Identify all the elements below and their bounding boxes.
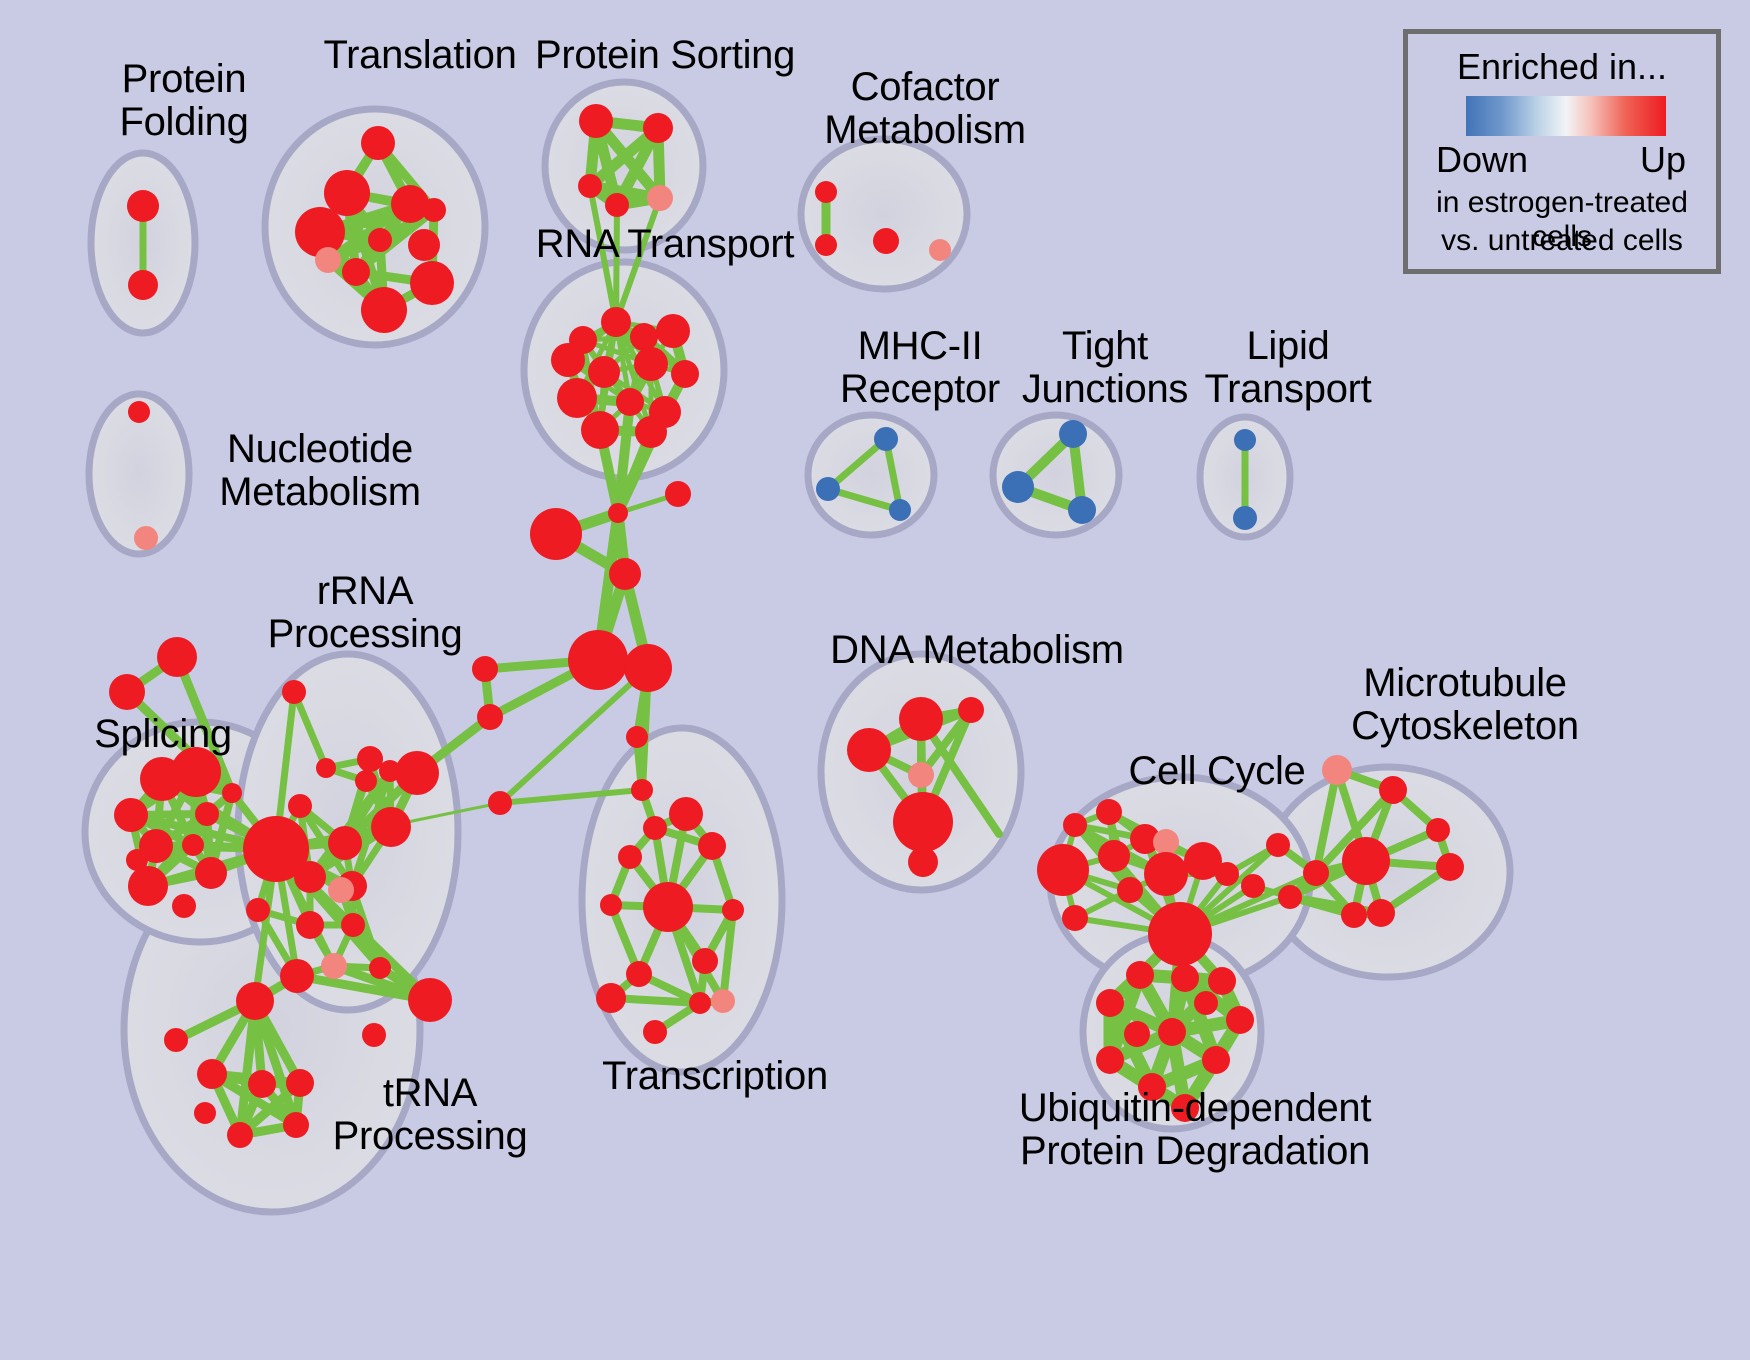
gene-set-node [248,1070,276,1098]
gene-set-node [1096,1046,1124,1074]
gene-set-node [1068,496,1096,524]
gene-set-node [128,401,150,423]
gene-set-node [958,697,984,723]
gene-set-node [689,992,711,1014]
hull-protein-sorting [545,82,703,250]
gene-set-node [579,104,613,138]
gene-set-node [355,770,377,792]
gene-set-node [596,983,626,1013]
gene-set-node [1226,1006,1254,1034]
gene-set-node [873,228,899,254]
gene-set-node [630,323,658,351]
gene-set-node [1148,902,1212,966]
legend-title: Enriched in... [1408,46,1716,88]
gene-set-node [1096,799,1122,825]
gene-set-node [616,388,644,416]
gene-set-node [182,834,204,856]
gene-set-node [711,989,735,1013]
hull-mhc-ii-receptor [808,415,934,535]
gene-set-node [669,797,703,831]
gene-set-node [341,913,365,937]
gene-set-node [1342,837,1390,885]
gene-set-node [643,113,673,143]
gene-set-node [369,957,391,979]
gene-set-node [631,779,653,801]
gene-set-node [408,229,440,261]
gene-set-node [608,503,628,523]
gene-set-node [286,1069,314,1097]
gene-set-node [893,792,953,852]
gene-set-node [128,270,158,300]
gene-set-node [1171,1094,1199,1122]
gene-set-node [280,959,314,993]
gene-set-node [328,826,362,860]
gene-set-node [1158,1018,1186,1046]
gene-set-node [816,477,840,501]
gene-set-node [643,816,667,840]
gene-set-node [195,857,227,889]
gene-set-node [601,307,631,337]
gene-set-node [815,181,837,203]
gene-set-node [361,126,395,160]
gene-set-node [1379,776,1407,804]
gene-set-node [626,726,648,748]
gene-set-node [1098,840,1130,872]
gene-set-node [557,378,597,418]
gene-set-node [114,798,148,832]
gene-set-node [578,174,602,198]
gene-set-node [899,697,943,741]
gene-set-node [422,198,446,222]
gene-set-node [488,791,512,815]
gene-set-node [243,816,309,882]
gene-set-node [357,746,383,772]
gene-set-node [1171,964,1199,992]
gene-set-node [134,526,158,550]
gene-set-node [126,849,148,871]
gene-set-node [665,481,691,507]
gene-set-node [472,656,498,682]
gene-set-node [1126,961,1154,989]
gene-set-node [1037,844,1089,896]
gene-set-node [361,287,407,333]
gene-set-node [342,258,370,286]
gene-set-node [874,427,898,451]
gene-set-node [1341,902,1367,928]
gene-set-node [609,558,641,590]
gene-set-node [371,807,411,847]
gene-set-node [391,185,429,223]
gene-set-node [647,185,673,211]
gene-set-node [671,360,699,388]
gene-set-node [692,948,718,974]
legend-up-label: Up [1640,139,1686,181]
gene-set-node [172,894,196,918]
gene-set-node [1117,877,1143,903]
cluster-hulls [85,82,1510,1212]
gene-set-node [246,898,270,922]
gene-set-node [722,899,744,921]
gene-set-node [1153,829,1179,855]
gene-set-node [324,170,370,216]
gene-set-node [296,911,324,939]
gene-set-node [568,630,628,690]
gene-set-node [1202,1046,1230,1074]
gene-set-node [698,832,726,860]
gene-set-node [282,680,306,704]
gene-set-node [1278,885,1302,909]
gene-set-node [643,1020,667,1044]
gene-set-node [395,751,439,795]
gene-set-node [164,1028,188,1052]
gene-set-node [815,234,837,256]
gene-set-node [222,783,242,803]
gene-set-node [288,794,312,818]
gene-set-node [588,356,620,388]
gene-set-node [643,882,693,932]
gene-set-node [1059,420,1087,448]
gene-set-node [1002,471,1034,503]
gene-set-node [889,499,911,521]
gene-set-node [236,982,274,1020]
gene-set-node [1124,1021,1150,1047]
gene-set-node [315,247,341,273]
gene-set-node [410,261,454,305]
gene-set-node [197,1059,227,1089]
legend-box: Enriched in... Down Up in estrogen-treat… [1403,29,1721,274]
gene-set-node [157,637,197,677]
gene-set-node [1144,852,1188,896]
gene-set-node [600,894,622,916]
gene-set-node [1096,989,1124,1017]
gene-set-node [127,190,159,222]
gene-set-node [171,747,221,797]
gene-set-node [634,347,668,381]
gene-set-node [283,1112,309,1138]
gene-set-node [1063,813,1087,837]
gene-set-node [1322,755,1352,785]
gene-set-node [929,239,951,261]
gene-set-node [635,416,667,448]
gene-set-node [194,1102,216,1124]
gene-set-node [477,704,503,730]
gene-set-node [1138,1073,1166,1101]
gene-set-node [408,978,452,1022]
gene-set-node [1233,506,1257,530]
legend-subtitle-line2: vs. untreated cells [1408,224,1716,258]
enrichment-map-figure: Protein FoldingTranslationProtein Sortin… [0,0,1750,1360]
gene-set-node [1266,833,1290,857]
gene-set-node [908,762,934,788]
gene-set-node [551,343,585,377]
gene-set-node [1062,905,1088,931]
gene-set-node [1241,874,1265,898]
gene-set-node [1426,818,1450,842]
gene-set-node [368,228,392,252]
gene-set-node [321,953,347,979]
gene-set-node [1215,862,1239,886]
gene-set-node [328,877,354,903]
gene-set-node [1367,899,1395,927]
gene-set-node [295,207,345,257]
gene-set-node [530,508,582,560]
gene-set-node [624,644,672,692]
legend-down-label: Down [1436,139,1528,181]
gene-set-node [908,847,938,877]
gene-set-node [1194,991,1218,1015]
gene-set-node [1303,860,1329,886]
gene-set-node [626,961,652,987]
gene-set-node [109,674,145,710]
gene-set-node [1208,967,1236,995]
gene-set-node [605,193,629,217]
gene-set-node [1234,429,1256,451]
gene-set-node [656,314,690,348]
gene-set-node [1436,853,1464,881]
gene-set-node [195,802,219,826]
gene-set-node [227,1122,253,1148]
color-scale-bar [1466,96,1666,136]
gene-set-node [128,866,168,906]
gene-set-node [316,758,336,778]
gene-set-node [618,845,642,869]
gene-set-node [847,728,891,772]
gene-set-node [581,411,619,449]
gene-set-node [362,1023,386,1047]
